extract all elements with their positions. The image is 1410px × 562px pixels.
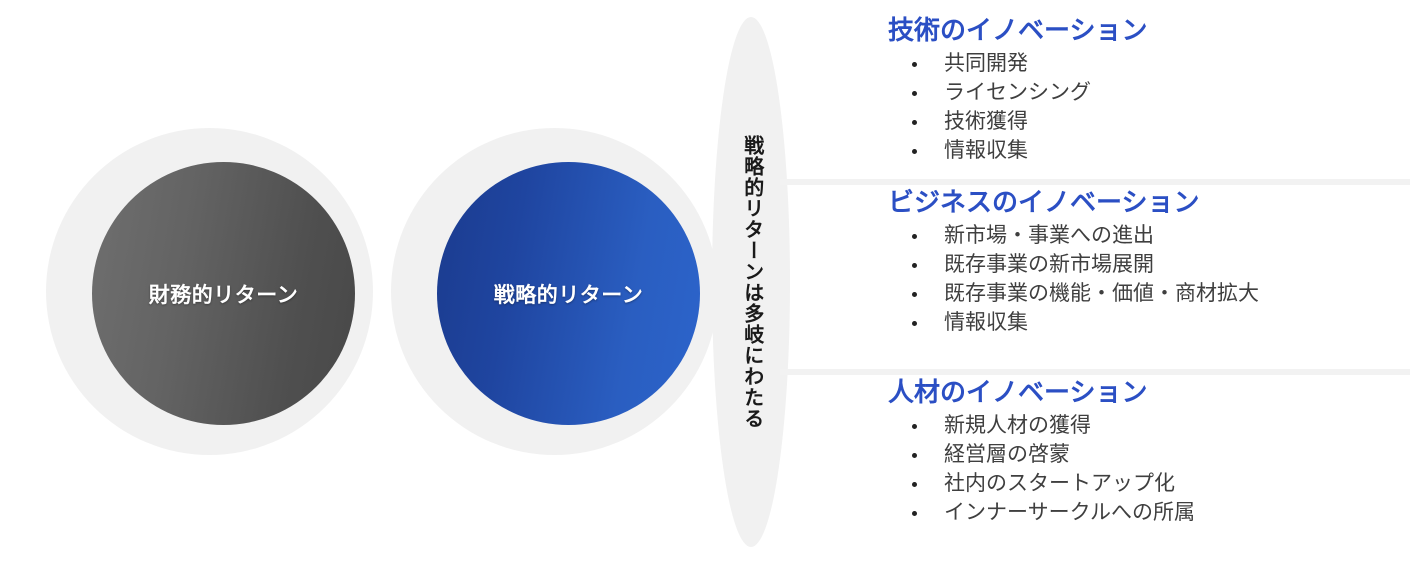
orb-financial-return-label: 財務的リターン bbox=[149, 279, 298, 309]
list-item: インナーサークルへの所属 bbox=[908, 499, 1410, 528]
connector-ellipse-label: 戦略的リターンは多岐にわたる bbox=[740, 135, 762, 429]
diagram-canvas: 財務的リターン 戦略的リターン 戦略的リターンは多岐にわたる 技術のイノベーショ… bbox=[0, 0, 1410, 562]
list-item: 情報収集 bbox=[908, 309, 1410, 338]
list-item: 技術獲得 bbox=[908, 108, 1410, 137]
list-item: 新市場・事業への進出 bbox=[908, 222, 1410, 251]
section-technology-innovation: 技術のイノベーション 共同開発 ライセンシング 技術獲得 情報収集 bbox=[780, 14, 1410, 182]
section-heading-business: ビジネスのイノベーション bbox=[888, 186, 1410, 220]
innovation-sections: 技術のイノベーション 共同開発 ライセンシング 技術獲得 情報収集 ビジネスのイ… bbox=[780, 0, 1410, 562]
section-business-innovation: ビジネスのイノベーション 新市場・事業への進出 既存事業の新市場展開 既存事業の… bbox=[780, 186, 1410, 372]
list-item: 新規人材の獲得 bbox=[908, 412, 1410, 441]
section-heading-technology: 技術のイノベーション bbox=[888, 14, 1410, 48]
list-item: ライセンシング bbox=[908, 79, 1410, 108]
bullet-list-business: 新市場・事業への進出 既存事業の新市場展開 既存事業の機能・価値・商材拡大 情報… bbox=[780, 222, 1410, 338]
list-item: 経営層の啓蒙 bbox=[908, 441, 1410, 470]
list-item: 社内のスタートアップ化 bbox=[908, 470, 1410, 499]
connector-ellipse: 戦略的リターンは多岐にわたる bbox=[712, 17, 790, 547]
section-talent-innovation: 人材のイノベーション 新規人材の獲得 経営層の啓蒙 社内のスタートアップ化 イン… bbox=[780, 376, 1410, 556]
list-item: 情報収集 bbox=[908, 137, 1410, 166]
orb-strategic-return-label: 戦略的リターン bbox=[494, 279, 643, 309]
list-item: 既存事業の新市場展開 bbox=[908, 251, 1410, 280]
orb-strategic-return[interactable]: 戦略的リターン bbox=[437, 162, 700, 425]
list-item: 既存事業の機能・価値・商材拡大 bbox=[908, 280, 1410, 309]
section-heading-talent: 人材のイノベーション bbox=[888, 376, 1410, 410]
orb-financial-return[interactable]: 財務的リターン bbox=[92, 162, 355, 425]
list-item: 共同開発 bbox=[908, 50, 1410, 79]
bullet-list-technology: 共同開発 ライセンシング 技術獲得 情報収集 bbox=[780, 50, 1410, 166]
bullet-list-talent: 新規人材の獲得 経営層の啓蒙 社内のスタートアップ化 インナーサークルへの所属 bbox=[780, 412, 1410, 528]
